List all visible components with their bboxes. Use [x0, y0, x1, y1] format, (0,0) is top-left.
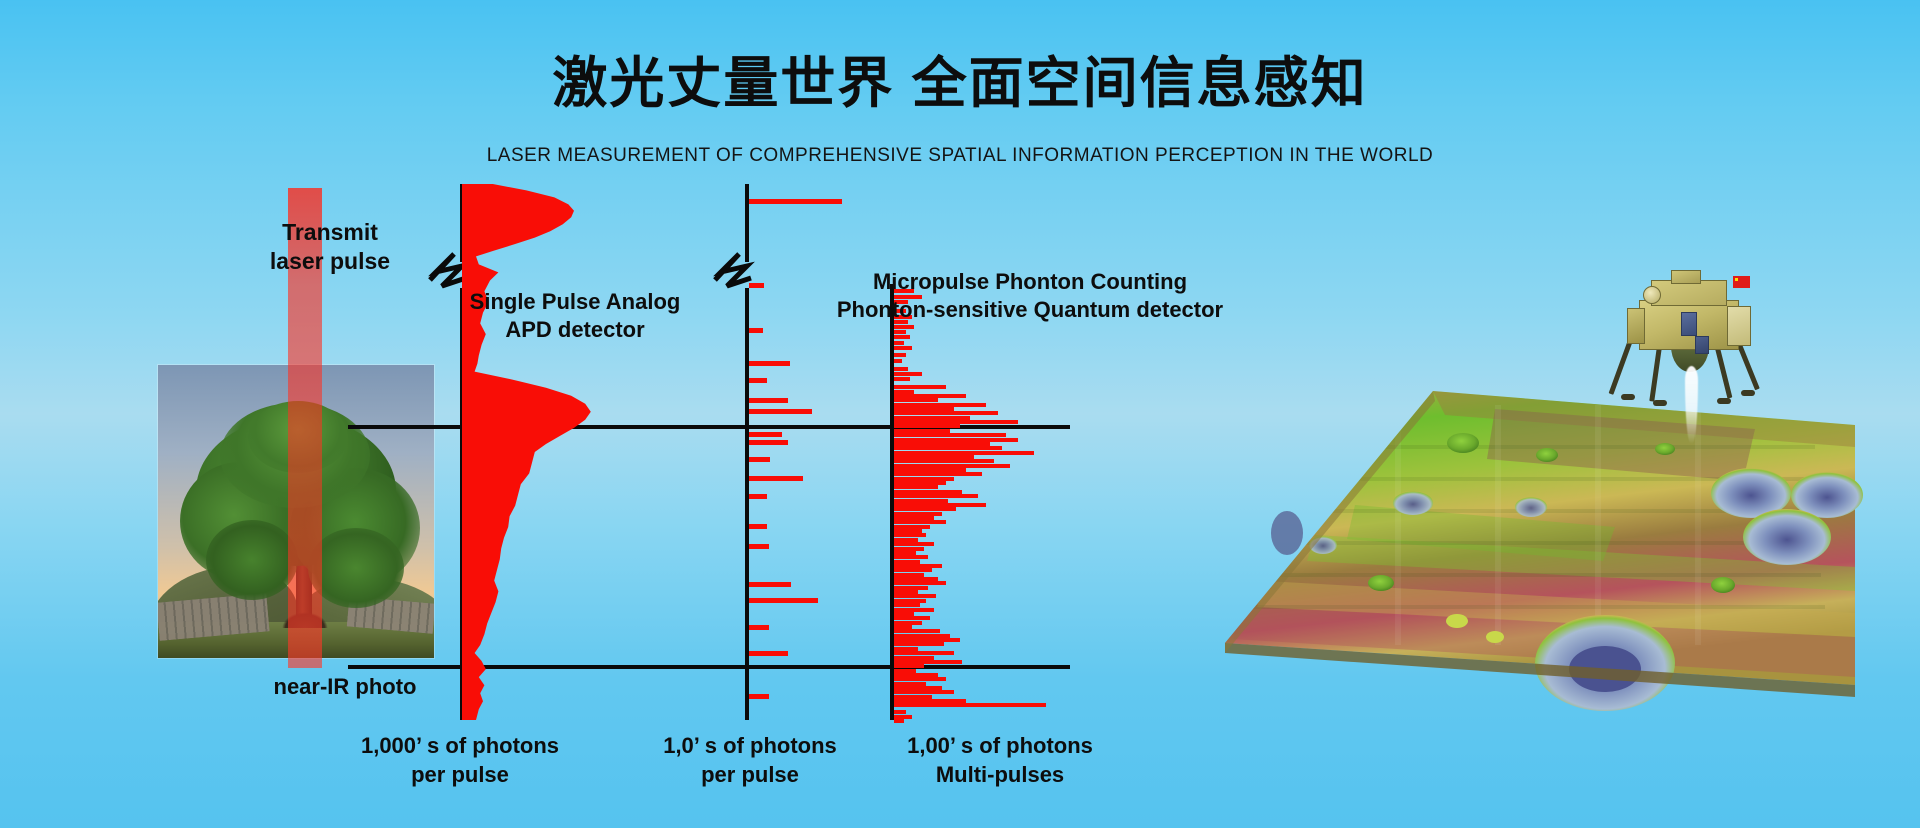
chart3-bars — [894, 284, 1120, 720]
photon-return-bar — [894, 442, 990, 446]
photon-return-bar — [894, 621, 922, 625]
photon-return-bar — [894, 682, 926, 686]
photon-return-bar — [894, 424, 960, 428]
photon-return-bar — [894, 411, 998, 415]
photon-return-bar — [749, 524, 767, 529]
photon-return-bar — [749, 398, 788, 403]
photon-return-bar — [894, 638, 960, 642]
lander-side-panel-right — [1727, 306, 1751, 346]
photon-return-bar — [749, 457, 770, 462]
photon-return-bar — [894, 464, 1010, 468]
page-title: 激光丈量世界 全面空间信息感知 — [0, 52, 1920, 115]
photon-return-bar — [894, 629, 940, 633]
photon-return-bar — [894, 372, 922, 376]
photon-return-bar — [894, 673, 938, 677]
photon-return-bar — [894, 651, 954, 655]
lander-thruster-pod — [1695, 336, 1709, 354]
lunar-lander — [1615, 270, 1755, 410]
caption-analog-apd: 1,000’ s of photons per pulse — [300, 732, 620, 789]
photon-return-bar — [894, 341, 904, 345]
photon-return-bar — [894, 529, 922, 533]
lander-foot-1 — [1621, 394, 1635, 400]
photon-return-bar — [894, 507, 956, 511]
photon-return-bar — [894, 398, 938, 402]
photon-return-bar — [749, 283, 764, 288]
caption-multipulse-photons: 1,00’ s of photons Multi-pulses — [850, 732, 1150, 789]
photon-return-bar — [749, 199, 842, 204]
photon-return-bar — [894, 367, 908, 371]
photon-return-bar — [894, 686, 942, 690]
photon-return-bar — [894, 477, 954, 481]
photon-return-bar — [894, 573, 924, 577]
lander-antenna-dish — [1643, 286, 1661, 304]
near-ir-photo-label: near-IR photo — [220, 673, 470, 701]
photon-return-bar — [894, 490, 962, 494]
photon-return-bar — [894, 703, 1046, 707]
transmit-label-line2: laser pulse — [230, 247, 430, 276]
photon-return-bar — [894, 499, 948, 503]
photon-return-bar — [894, 520, 946, 524]
chart-analog-apd — [460, 180, 680, 720]
photon-return-bar — [894, 642, 944, 646]
photon-return-bar — [894, 551, 916, 555]
photon-return-bar — [894, 577, 938, 581]
photon-return-bar — [894, 433, 1006, 437]
lander-foot-4 — [1741, 390, 1755, 396]
photon-return-bar — [749, 432, 782, 437]
caption-right-line2: Multi-pulses — [850, 761, 1150, 790]
lander-side-panel-left — [1627, 308, 1645, 344]
photon-return-bar — [894, 468, 966, 472]
photon-return-bar — [749, 651, 788, 656]
photon-return-bar — [749, 625, 769, 630]
chart1-waveform — [462, 184, 652, 720]
photon-return-bar — [894, 555, 928, 559]
photon-return-bar — [894, 335, 910, 339]
photon-return-bar — [894, 616, 930, 620]
photon-return-bar — [749, 694, 769, 699]
transmit-laser-pulse-label: Transmit laser pulse — [230, 218, 430, 277]
lander-foot-2 — [1653, 400, 1667, 406]
photon-return-bar — [894, 533, 926, 537]
photon-return-bar — [894, 542, 934, 546]
photon-return-bar — [894, 710, 906, 714]
photon-return-bar — [894, 664, 924, 668]
photon-return-bar — [749, 494, 767, 499]
photon-return-bar — [894, 455, 974, 459]
photon-return-bar — [894, 512, 942, 516]
apd-label-line2: APD detector — [430, 316, 720, 344]
photon-return-bar — [894, 660, 962, 664]
photon-return-bar — [894, 594, 936, 598]
apd-detector-label: Single Pulse Analog APD detector — [430, 288, 720, 344]
photon-return-bar — [894, 446, 1002, 450]
photon-return-bar — [894, 485, 938, 489]
photon-return-bar — [894, 420, 1018, 424]
photon-return-bar — [894, 377, 910, 381]
photon-return-bar — [894, 353, 906, 357]
caption-left-line2: per pulse — [300, 761, 620, 790]
photon-return-bar — [749, 328, 763, 333]
caption-right-line1: 1,00’ s of photons — [850, 732, 1150, 761]
photon-return-bar — [894, 695, 932, 699]
photon-return-bar — [749, 378, 767, 383]
photon-return-bar — [894, 346, 912, 350]
lunar-landing-scene — [1195, 270, 1855, 720]
chart-micropulse-photon-counting — [890, 180, 1120, 720]
poster-canvas: 激光丈量世界 全面空间信息感知 LASER MEASUREMENT OF COM… — [0, 0, 1920, 828]
photon-return-bar — [749, 598, 818, 603]
photon-return-bar — [749, 361, 790, 366]
photon-return-bar — [894, 608, 934, 612]
photon-return-bar — [749, 476, 803, 481]
china-flag-star — [1735, 278, 1738, 281]
photon-return-bar — [894, 586, 928, 590]
photon-return-bar — [749, 544, 769, 549]
lidar-waveform-charts — [0, 180, 1160, 760]
photon-return-bar — [894, 359, 902, 363]
photon-return-bar — [894, 390, 914, 394]
photon-return-bar — [749, 582, 791, 587]
apd-label-line1: Single Pulse Analog — [430, 288, 720, 316]
photon-return-bar — [894, 564, 942, 568]
photon-return-bar — [894, 599, 926, 603]
caption-left-line1: 1,000’ s of photons — [300, 732, 620, 761]
quantum-label-line1: Micropulse Phonton Counting — [810, 268, 1250, 296]
photon-return-bar — [894, 719, 904, 723]
lander-mast — [1671, 270, 1701, 284]
photon-return-bar — [894, 330, 906, 334]
3d-dem-terrain — [1195, 385, 1855, 715]
photon-return-bar — [894, 403, 986, 407]
quantum-detector-label: Micropulse Phonton Counting Phonton-sens… — [810, 268, 1250, 324]
transmit-label-line1: Transmit — [230, 218, 430, 247]
lander-instrument-box — [1681, 312, 1697, 336]
page-subtitle: LASER MEASUREMENT OF COMPREHENSIVE SPATI… — [0, 145, 1920, 167]
photon-return-bar — [894, 325, 914, 329]
photon-return-bar — [749, 409, 812, 414]
quantum-label-line2: Phonton-sensitive Quantum detector — [810, 296, 1250, 324]
lander-foot-3 — [1717, 398, 1731, 404]
photon-return-bar — [749, 440, 788, 445]
